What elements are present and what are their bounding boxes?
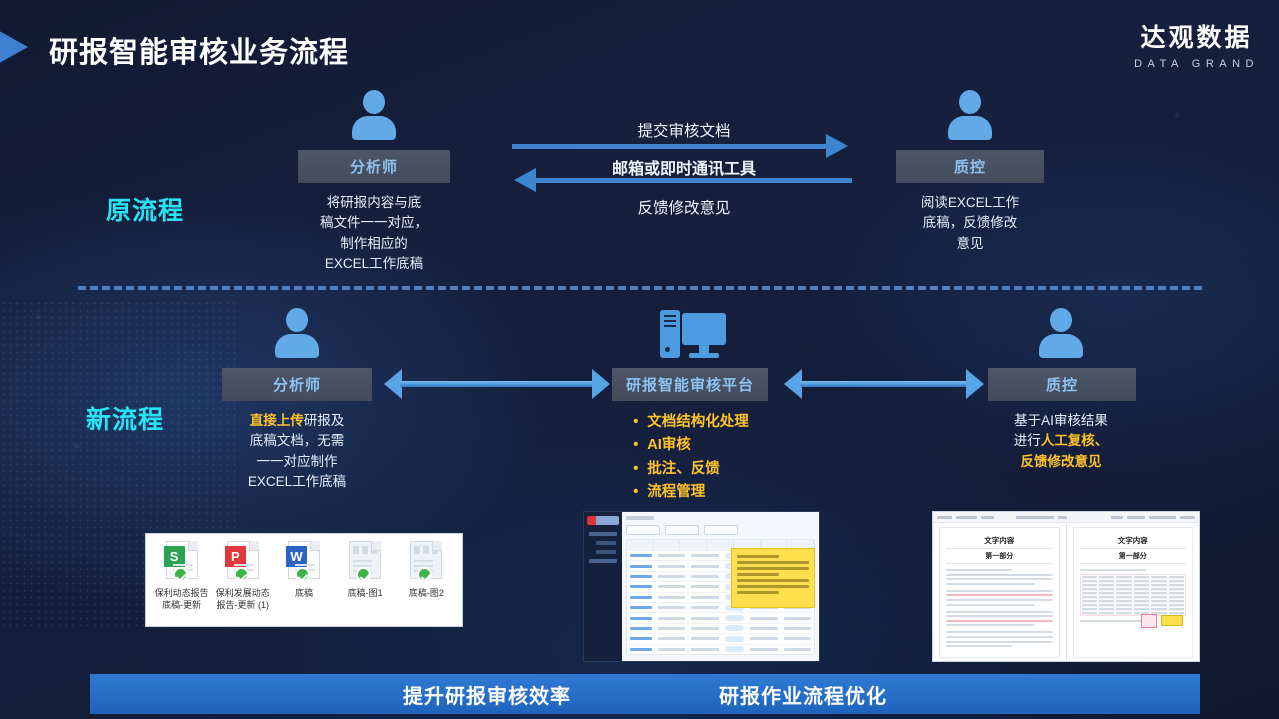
brand-logo: 达观数据 DATA GRAND xyxy=(1134,18,1259,70)
desc-line: 进行人工复核、 xyxy=(988,431,1134,451)
person-icon xyxy=(1033,306,1089,362)
desc-line: 阅读EXCEL工作 xyxy=(896,193,1044,213)
desc-line: 直接上传研报及 xyxy=(222,411,372,431)
bidirectional-arrow-left xyxy=(384,367,610,401)
doc-compare-body: 文字内容 第一部分 文字内容 第一部分 xyxy=(933,523,1199,662)
platform-screenshot[interactable] xyxy=(583,511,820,662)
new-flow-qc-node: 质控 基于AI审核结果 进行人工复核、 反馈修改意见 xyxy=(988,306,1134,472)
new-flow-analyst-node: 分析师 直接上传研报及 底稿文档，无需 一一对应制作 EXCEL工作底稿 xyxy=(222,306,372,492)
desc-line: 意见 xyxy=(896,234,1044,254)
platform-feature-item: 流程管理 xyxy=(631,481,749,504)
file-type-tag: W xyxy=(286,546,307,567)
table-row xyxy=(627,633,814,643)
table-row xyxy=(627,612,814,622)
sidebar-menu-item xyxy=(596,541,616,545)
new-qc-description: 基于AI审核结果 进行人工复核、 反馈修改意见 xyxy=(988,411,1134,472)
file-item[interactable]: W 底稿 xyxy=(275,541,333,600)
doc-data-table xyxy=(1080,574,1187,616)
desc-line: 基于AI审核结果 xyxy=(988,411,1134,431)
image-file-icon xyxy=(410,541,442,579)
sidebar-menu-item xyxy=(589,559,617,563)
doc-title: 文字内容 xyxy=(946,533,1053,549)
computer-icon xyxy=(654,306,726,364)
file-name: 保利发展动态报告-更新 (1) xyxy=(214,588,272,612)
new-analyst-description: 直接上传研报及 底稿文档，无需 一一对应制作 EXCEL工作底稿 xyxy=(222,411,372,492)
file-name: 底稿-图2 xyxy=(397,588,455,600)
desc-highlight: 反馈修改意见 xyxy=(988,452,1134,472)
new-flow-label: 新流程 xyxy=(86,400,164,436)
bottom-banner: 提升研报审核效率 研报作业流程优化 xyxy=(90,674,1200,714)
desc-line: 将研报内容与底 xyxy=(298,193,450,213)
desc-highlight: 直接上传 xyxy=(250,413,304,428)
desc-text: 进行 xyxy=(1014,433,1041,448)
doc-toolbar xyxy=(933,512,1199,523)
filter-button-row xyxy=(626,525,815,535)
doc-pane-right: 文字内容 第一部分 xyxy=(1067,523,1200,662)
pdf-file-icon: P xyxy=(227,541,259,579)
doc-page: 文字内容 第一部分 xyxy=(939,527,1060,658)
sync-check-icon xyxy=(295,567,310,582)
file-name: 底稿-图1 xyxy=(336,588,394,600)
platform-feature-item: 批注、反馈 xyxy=(631,458,749,481)
old-qc-description: 阅读EXCEL工作 底稿，反馈修改 意见 xyxy=(896,193,1044,254)
old-qc-badge: 质控 xyxy=(896,150,1044,183)
old-arrow-top-label: 提交审核文档 xyxy=(512,119,856,141)
logo-english-text: DATA GRAND xyxy=(1134,58,1259,70)
desc-line: EXCEL工作底稿 xyxy=(298,254,450,274)
old-flow-analyst-node: 分析师 将研报内容与底 稿文件一一对应， 制作相应的 EXCEL工作底稿 xyxy=(298,88,450,274)
image-file-icon xyxy=(349,541,381,579)
sync-check-icon xyxy=(417,567,432,582)
desc-highlight: 人工复核、 xyxy=(1041,433,1109,448)
sidebar-menu-item xyxy=(596,550,616,554)
banner-text-right: 研报作业流程优化 xyxy=(719,680,887,709)
new-analyst-badge: 分析师 xyxy=(222,368,372,401)
person-icon xyxy=(269,306,325,362)
old-analyst-badge: 分析师 xyxy=(298,150,450,183)
page-title: 研报智能审核业务流程 xyxy=(49,29,349,71)
breadcrumb xyxy=(626,516,654,520)
file-list-panel[interactable]: S 保利动态报告底稿-更新 P 保利发展动态报告-更新 (1) W 底稿 底稿-… xyxy=(145,533,463,627)
file-item[interactable]: 底稿-图2 xyxy=(397,541,455,600)
title-marker-icon xyxy=(0,28,28,66)
old-arrow-right-line xyxy=(512,144,828,149)
desc-line: 底稿，反馈修改 xyxy=(896,213,1044,233)
person-icon xyxy=(346,88,402,144)
new-qc-badge: 质控 xyxy=(988,368,1136,401)
app-sidebar xyxy=(584,512,622,661)
sync-check-icon xyxy=(234,567,249,582)
old-arrow-mid-label: 邮箱或即时通讯工具 xyxy=(512,155,856,179)
sync-check-icon xyxy=(173,567,188,582)
platform-feature-list: 文档结构化处理 AI审核 批注、反馈 流程管理 xyxy=(631,411,749,505)
platform-feature-item: AI审核 xyxy=(631,434,749,457)
file-item[interactable]: S 保利动态报告底稿-更新 xyxy=(153,541,211,612)
desc-line: 底稿文档，无需 xyxy=(222,431,372,451)
desc-line: 一一对应制作 xyxy=(222,452,372,472)
excel-file-icon: S xyxy=(166,541,198,579)
sync-check-icon xyxy=(356,567,371,582)
platform-feature-item: 文档结构化处理 xyxy=(631,411,749,434)
desc-line: EXCEL工作底稿 xyxy=(222,472,372,492)
old-flow-label: 原流程 xyxy=(106,191,184,227)
document-review-screenshot[interactable]: 文字内容 第一部分 文字内容 第一部分 xyxy=(932,511,1200,662)
doc-title: 文字内容 xyxy=(1080,533,1187,549)
app-logo-icon xyxy=(587,516,619,525)
highlight-chip xyxy=(1161,615,1183,626)
desc-text: 研报及 xyxy=(304,413,345,428)
flow-divider xyxy=(78,286,1202,290)
bidirectional-arrow-right xyxy=(784,367,984,401)
highlight-box xyxy=(1141,614,1157,628)
file-type-tag: P xyxy=(225,546,246,567)
old-arrow-left-line xyxy=(536,178,852,183)
file-item[interactable]: 底稿-图1 xyxy=(336,541,394,600)
old-flow-qc-node: 质控 阅读EXCEL工作 底稿，反馈修改 意见 xyxy=(896,88,1044,254)
file-name: 保利动态报告底稿-更新 xyxy=(153,588,211,612)
table-row xyxy=(627,644,814,654)
table-row xyxy=(627,623,814,633)
person-icon xyxy=(942,88,998,144)
file-item[interactable]: P 保利发展动态报告-更新 (1) xyxy=(214,541,272,612)
doc-page: 文字内容 第一部分 xyxy=(1073,527,1194,658)
app-main-area xyxy=(622,512,819,661)
desc-line: 稿文件一一对应， xyxy=(298,213,450,233)
sidebar-menu-item xyxy=(589,532,617,536)
desc-line: 制作相应的 xyxy=(298,234,450,254)
doc-subtitle: 第一部分 xyxy=(1080,549,1187,564)
file-type-tag: S xyxy=(164,546,185,567)
doc-subtitle: 第一部分 xyxy=(946,549,1053,564)
old-analyst-description: 将研报内容与底 稿文件一一对应， 制作相应的 EXCEL工作底稿 xyxy=(298,193,450,274)
new-flow-platform-node: 研报智能审核平台 文档结构化处理 AI审核 批注、反馈 流程管理 xyxy=(612,306,768,505)
file-name: 底稿 xyxy=(275,588,333,600)
old-arrow-bottom-label: 反馈修改意见 xyxy=(512,196,856,218)
logo-chinese-text: 达观数据 xyxy=(1134,18,1259,54)
platform-badge: 研报智能审核平台 xyxy=(612,368,768,401)
word-file-icon: W xyxy=(288,541,320,579)
banner-text-left: 提升研报审核效率 xyxy=(403,680,571,709)
annotation-popup xyxy=(731,548,815,608)
old-arrow-left-head-icon xyxy=(514,168,536,192)
doc-pane-left: 文字内容 第一部分 xyxy=(933,523,1067,662)
